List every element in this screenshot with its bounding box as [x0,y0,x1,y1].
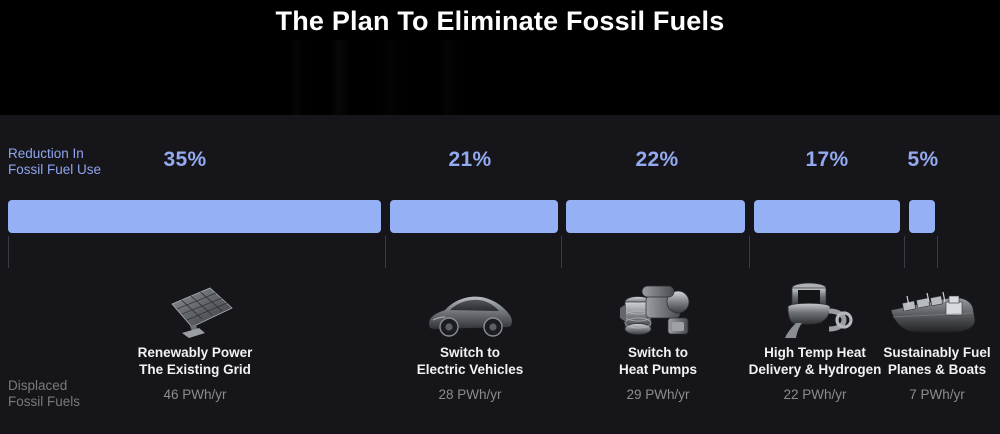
background-stripes [290,40,520,115]
title-band: The Plan To Eliminate Fossil Fuels [0,0,1000,115]
caption-title-renewable-grid: Renewably Power The Existing Grid [120,344,270,378]
caption-heat-pumps: Switch to Heat Pumps 29 PWh/yr [583,344,733,403]
caption-renewable-grid: Renewably Power The Existing Grid 46 PWh… [120,344,270,403]
bar-segment-planes-boats[interactable] [909,200,935,233]
industrial-furnace-icon [765,268,865,340]
caption-planes-boats: Sustainably Fuel Planes & Boats 7 PWh/yr [877,344,997,403]
caption-value-high-temp-heat: 22 PWh/yr [733,387,897,403]
caption-value-electric-vehicles: 28 PWh/yr [395,387,545,403]
tick-line-5 [937,236,938,268]
infographic-slide: The Plan To Eliminate Fossil Fuels Reduc… [0,0,1000,434]
caption-title-electric-vehicles: Switch to Electric Vehicles [395,344,545,378]
displaced-fossil-fuels-label: Displaced Fossil Fuels [8,378,80,410]
bar-segment-high-temp-heat[interactable] [754,200,900,233]
tick-line-1 [385,236,386,268]
percent-label-renewable-grid: 35% [145,148,225,172]
caption-high-temp-heat: High Temp Heat Delivery & Hydrogen 22 PW… [733,344,897,403]
heat-pump-icon [608,268,708,340]
tick-line-4 [904,236,905,268]
tick-line-0 [8,236,9,268]
caption-title-heat-pumps: Switch to Heat Pumps [583,344,733,378]
page-title: The Plan To Eliminate Fossil Fuels [0,6,1000,37]
tick-line-2 [561,236,562,268]
caption-value-renewable-grid: 46 PWh/yr [120,387,270,403]
reduction-in-fossil-fuel-use-label: Reduction In Fossil Fuel Use [8,146,101,178]
percent-label-high-temp-heat: 17% [787,148,867,172]
bar-segment-renewable-grid[interactable] [8,200,381,233]
cargo-ship-icon [883,268,983,340]
tick-line-3 [749,236,750,268]
solar-panel-icon [145,268,245,340]
caption-title-high-temp-heat: High Temp Heat Delivery & Hydrogen [733,344,897,378]
percent-label-heat-pumps: 22% [617,148,697,172]
caption-value-heat-pumps: 29 PWh/yr [583,387,733,403]
stacked-bar-track [0,200,1000,233]
bar-segment-electric-vehicles[interactable] [390,200,558,233]
percent-label-electric-vehicles: 21% [430,148,510,172]
caption-title-planes-boats: Sustainably Fuel Planes & Boats [877,344,997,378]
caption-value-planes-boats: 7 PWh/yr [877,387,997,403]
bar-segment-heat-pumps[interactable] [566,200,745,233]
electric-car-icon [420,268,520,340]
percent-label-planes-boats: 5% [883,148,963,172]
caption-electric-vehicles: Switch to Electric Vehicles 28 PWh/yr [395,344,545,403]
